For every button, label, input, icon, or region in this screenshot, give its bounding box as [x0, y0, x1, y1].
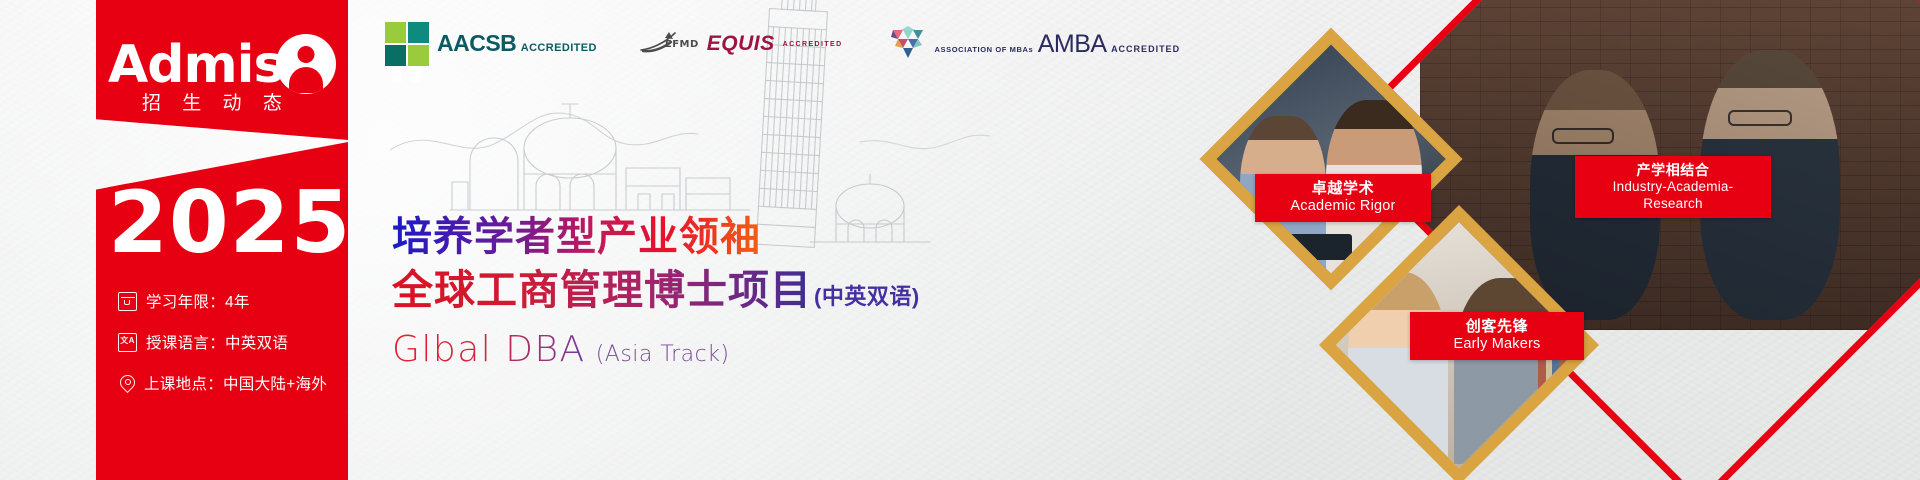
admission-subtitle-cn: 招 生 动 态: [142, 88, 290, 115]
location-pin-icon: [118, 375, 135, 392]
program-title-cn: 全球工商管理博士项目 (中英双语): [392, 262, 920, 325]
person-figure: [1348, 272, 1448, 462]
badge-makers-cn: 创客先锋: [1424, 318, 1570, 336]
badge-academic-cn: 卓越学术: [1269, 180, 1417, 198]
fact-item-duration: 学习年限：4年: [118, 290, 348, 312]
avatar-body: [289, 67, 323, 93]
amba-text: ASSOCIATION OF MBAs AMBA ACCREDITED: [935, 32, 1181, 57]
badge-makers-en: Early Makers: [1424, 336, 1570, 354]
program-title-en-text: Glbal DBA: [392, 325, 586, 375]
fact-label-language: 授课语言：中英双语: [146, 331, 288, 353]
program-title-cn-text: 全球工商管理博士项目: [392, 262, 812, 318]
badge-academic-en: Academic Rigor: [1269, 198, 1417, 216]
left-red-panel: Admissin 招 生 动 态 2025 学习年限：4年 文A 授课语言：中英…: [0, 0, 420, 480]
program-title-cn-paren: (中英双语): [814, 269, 920, 325]
efmd-swoosh-icon: [639, 31, 683, 53]
photo-collage: 卓越学术 Academic Rigor 产学相结合 Industry-Acade…: [1160, 0, 1920, 480]
accreditation-row: AACSB ACCREDITED EFMD EQUIS ACCREDITED: [385, 22, 1180, 66]
fact-label-duration: 学习年限：4年: [146, 290, 250, 312]
tagline: 培养学者型产业领袖: [392, 212, 920, 262]
avatar-head: [298, 46, 315, 63]
amba-top: ASSOCIATION OF MBAs: [935, 45, 1034, 54]
user-avatar-icon: [276, 34, 336, 94]
calendar-box-icon: [118, 292, 137, 311]
headline-block: 培养学者型产业领袖 全球工商管理博士项目 (中英双语) Glbal DBA (A…: [392, 212, 920, 380]
amba-name: AMBA: [1038, 30, 1107, 58]
program-title-en: Glbal DBA (Asia Track): [392, 325, 920, 380]
fact-item-language: 文A 授课语言：中英双语: [118, 331, 348, 353]
year-label: 2025: [108, 178, 348, 268]
accreditation-aacsb: AACSB ACCREDITED: [385, 22, 597, 66]
amba-diamond-icon: [889, 24, 929, 64]
badge-industry-cn: 产学相结合: [1589, 162, 1757, 179]
aacsb-sub: ACCREDITED: [521, 42, 597, 54]
badge-industry-en: Industry-Academia-Research: [1589, 179, 1757, 212]
fact-label-location: 上课地点：中国大陆+海外: [144, 372, 327, 394]
equis-name: EQUIS: [707, 33, 775, 55]
badge-makers: 创客先锋 Early Makers: [1410, 312, 1584, 360]
equis-sub: ACCREDITED: [783, 41, 843, 48]
laptop-icon: [1232, 234, 1352, 260]
accreditation-amba: ASSOCIATION OF MBAs AMBA ACCREDITED: [889, 24, 1181, 64]
fact-item-location: 上课地点：中国大陆+海外: [118, 372, 348, 394]
aacsb-squares-icon: [385, 22, 429, 66]
language-icon: 文A: [118, 333, 137, 352]
program-title-en-sub: (Asia Track): [596, 330, 730, 380]
accreditation-equis: EFMD EQUIS ACCREDITED: [643, 33, 843, 55]
badge-academic: 卓越学术 Academic Rigor: [1255, 174, 1431, 222]
aacsb-name: AACSB: [437, 30, 516, 56]
badge-industry: 产学相结合 Industry-Academia-Research: [1575, 156, 1771, 218]
aacsb-text: AACSB ACCREDITED: [437, 32, 597, 56]
admission-banner: Admissin 招 生 动 态 2025 学习年限：4年 文A 授课语言：中英…: [0, 0, 1920, 480]
fact-list: 学习年限：4年 文A 授课语言：中英双语 上课地点：中国大陆+海外: [118, 290, 348, 413]
